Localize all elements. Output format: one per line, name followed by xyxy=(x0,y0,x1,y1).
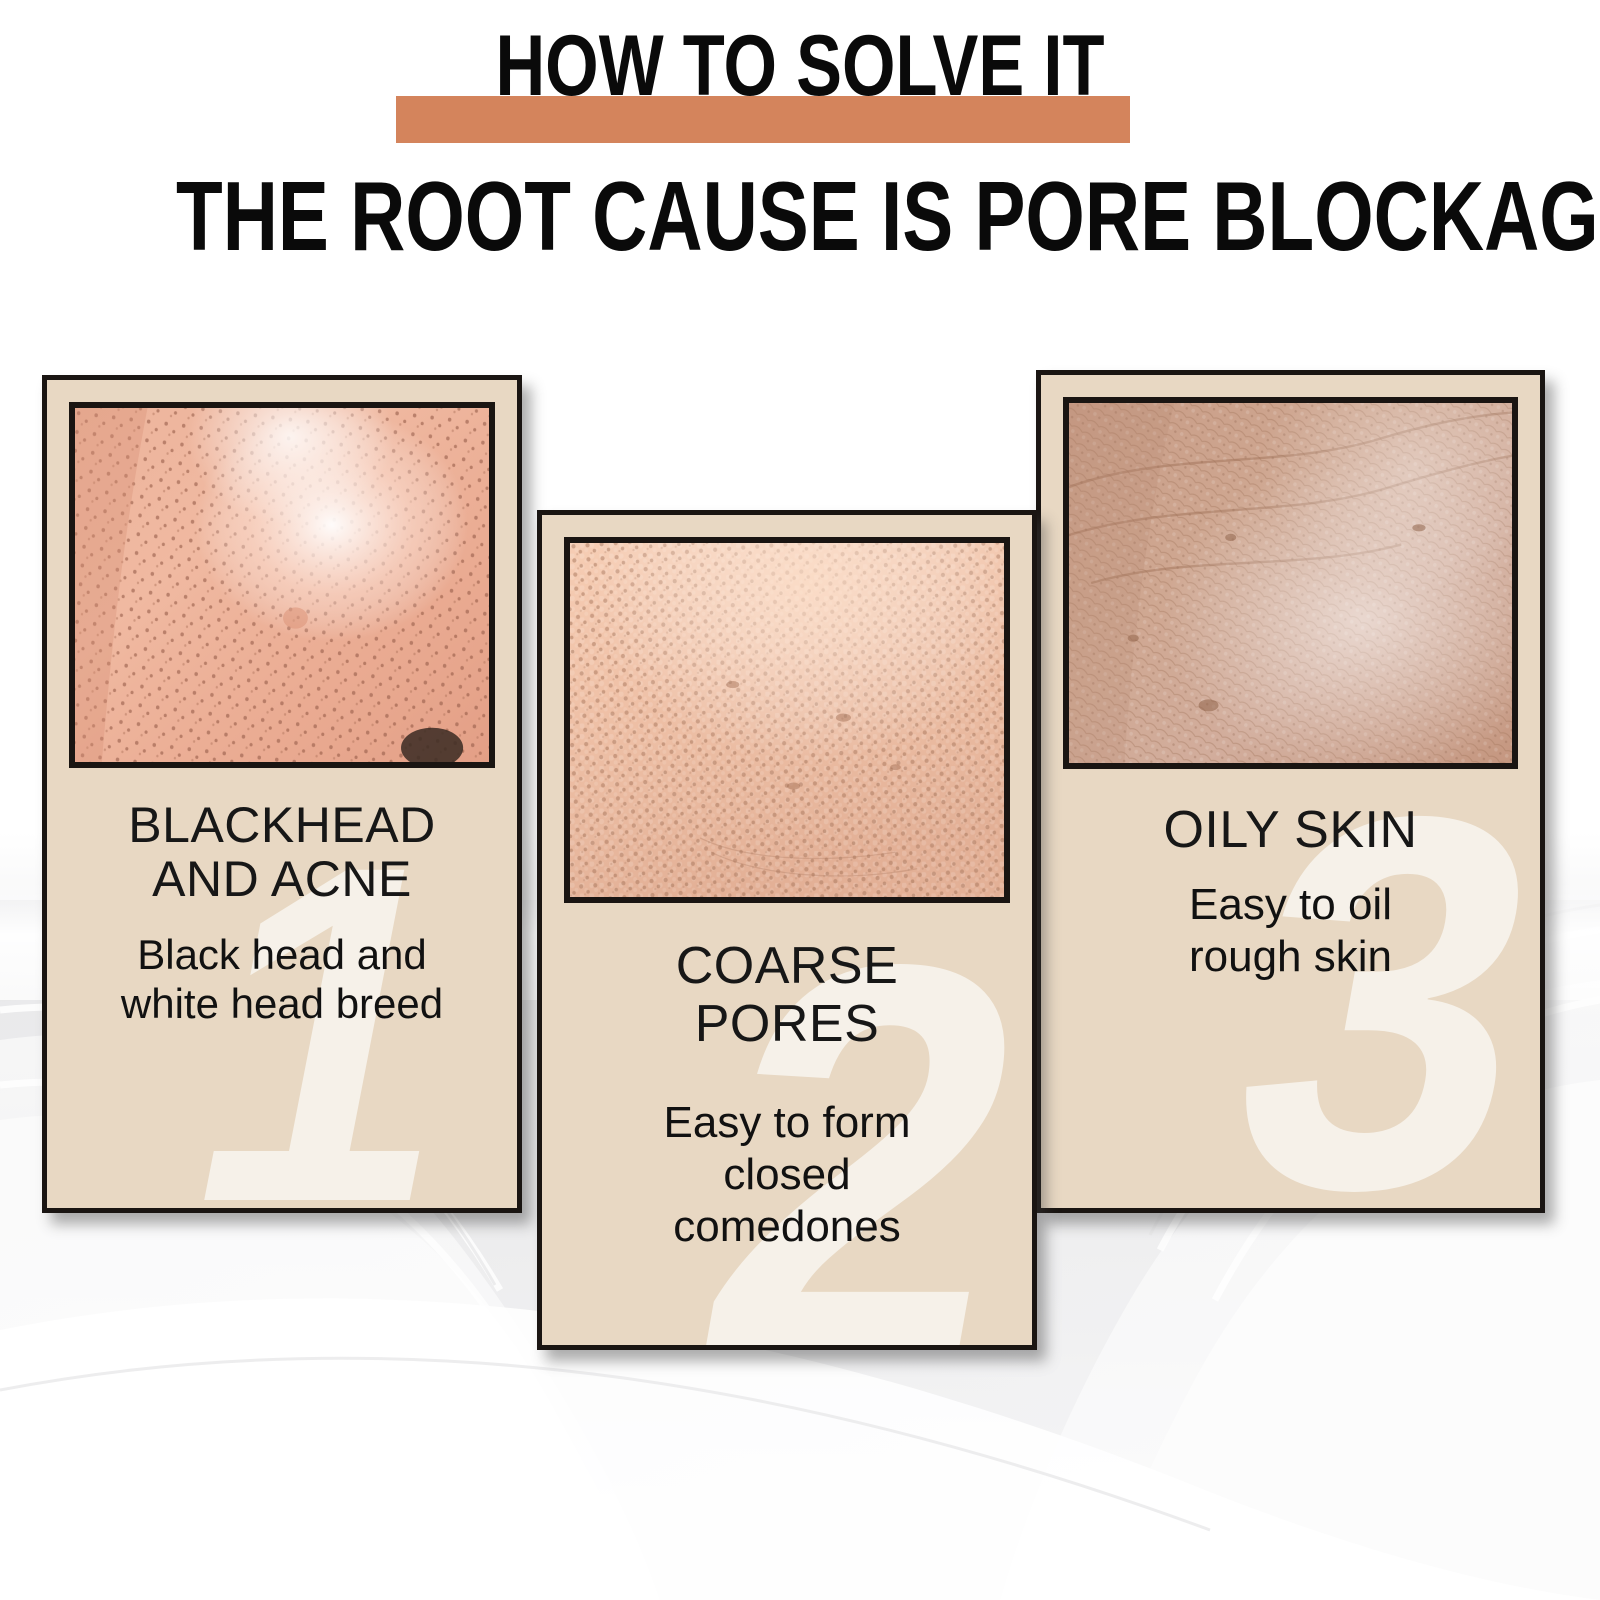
card-body-line: rough skin xyxy=(1189,932,1392,981)
card-body-line: white head breed xyxy=(121,980,443,1027)
card-body: Black head and white head breed xyxy=(121,930,443,1028)
card-body: Easy to oil rough skin xyxy=(1189,879,1392,983)
info-card-coarse-pores[interactable]: 2 xyxy=(537,510,1037,1350)
skin-photo-oily-skin xyxy=(1063,397,1518,769)
card-body-line: Easy to oil xyxy=(1189,880,1392,929)
card-body-line: closed xyxy=(723,1150,850,1199)
page-subtitle: THE ROOT CAUSE IS PORE BLOCKAGE xyxy=(176,162,1424,270)
card-heading: COARSE PORES xyxy=(676,937,899,1053)
card-heading-line: AND ACNE xyxy=(152,851,412,907)
page-header: HOW TO SOLVE IT THE ROOT CAUSE IS PORE B… xyxy=(0,0,1600,160)
info-card-oily-skin[interactable]: 3 xyxy=(1036,370,1545,1213)
card-heading-line: BLACKHEAD xyxy=(128,797,435,853)
card-body-line: comedones xyxy=(673,1202,900,1251)
title-block: HOW TO SOLVE IT xyxy=(0,0,1600,160)
skin-photo-coarse-pores xyxy=(564,537,1010,903)
info-card-blackhead-and-acne[interactable]: 1 xyxy=(42,375,522,1213)
card-body-line: Easy to form xyxy=(664,1098,911,1147)
blackhead-skin-image xyxy=(75,408,489,762)
card-heading-line: PORES xyxy=(695,995,880,1053)
card-content: COARSE PORES Easy to form closed comedon… xyxy=(542,515,1032,1345)
card-heading-line: COARSE xyxy=(676,937,899,995)
oily-skin-image xyxy=(1069,403,1512,763)
card-content: OILY SKIN Easy to oil rough skin xyxy=(1041,375,1540,1208)
card-heading-line: OILY SKIN xyxy=(1163,801,1417,859)
skin-photo-blackheads xyxy=(69,402,495,768)
coarse-pores-skin-image xyxy=(570,543,1004,897)
card-body: Easy to form closed comedones xyxy=(664,1097,911,1253)
card-content: BLACKHEAD AND ACNE Black head and white … xyxy=(47,380,517,1208)
card-heading: OILY SKIN xyxy=(1163,803,1417,857)
page-title: HOW TO SOLVE IT xyxy=(160,18,1440,114)
card-heading: BLACKHEAD AND ACNE xyxy=(128,798,435,906)
card-body-line: Black head and xyxy=(137,931,427,978)
